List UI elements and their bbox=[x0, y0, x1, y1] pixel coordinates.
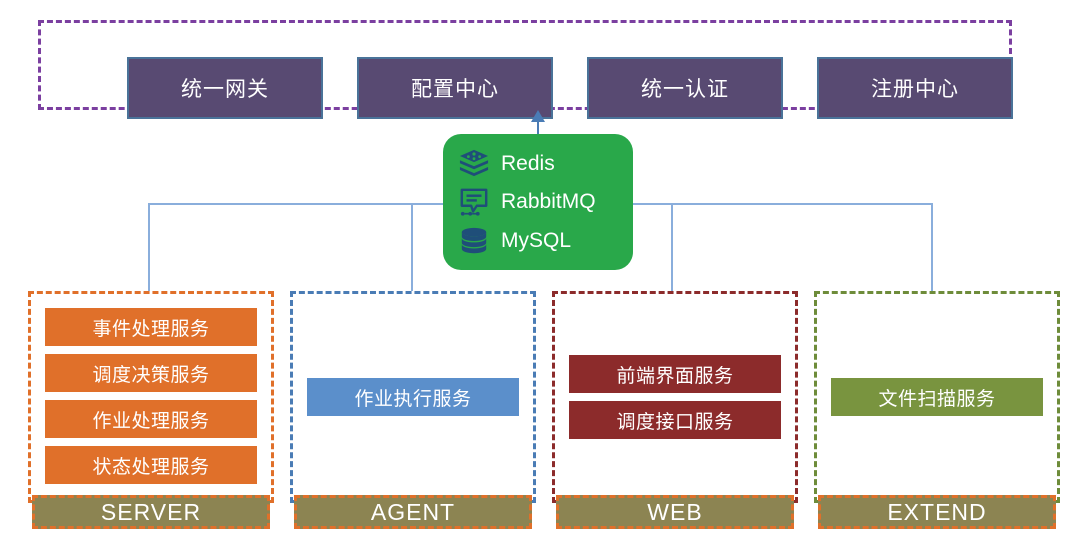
platform-box-auth[interactable]: 统一认证 bbox=[587, 57, 783, 119]
group-label-web-text: WEB bbox=[647, 499, 702, 526]
service-box-frontend-ui-label: 前端界面服务 bbox=[616, 361, 733, 388]
platform-box-auth-label: 统一认证 bbox=[641, 73, 729, 103]
arrow-up-icon bbox=[528, 110, 548, 136]
middleware-row-mysql: MySQL bbox=[459, 222, 633, 260]
redis-stack-icon bbox=[459, 148, 489, 178]
service-box-state-processing-label: 状态处理服务 bbox=[92, 452, 209, 479]
connector-drop-agent bbox=[411, 203, 413, 293]
group-label-server: SERVER bbox=[32, 495, 270, 529]
service-box-job-execution-label: 作业执行服务 bbox=[354, 384, 471, 411]
connector-bus-left bbox=[148, 203, 444, 205]
service-box-schedule-decision[interactable]: 调度决策服务 bbox=[45, 354, 257, 392]
service-box-event-processing[interactable]: 事件处理服务 bbox=[45, 308, 257, 346]
group-label-server-text: SERVER bbox=[101, 499, 201, 526]
group-label-extend: EXTEND bbox=[818, 495, 1056, 529]
middleware-row-rabbitmq: RabbitMQ bbox=[459, 183, 633, 221]
service-group-server: 事件处理服务 调度决策服务 作业处理服务 状态处理服务 bbox=[28, 291, 274, 503]
service-box-state-processing[interactable]: 状态处理服务 bbox=[45, 446, 257, 484]
service-box-schedule-api[interactable]: 调度接口服务 bbox=[569, 401, 781, 439]
service-group-agent: 作业执行服务 bbox=[290, 291, 536, 503]
connector-drop-server bbox=[148, 203, 150, 293]
group-label-agent-text: AGENT bbox=[371, 499, 455, 526]
platform-box-gateway-label: 统一网关 bbox=[181, 73, 269, 103]
service-box-file-scan[interactable]: 文件扫描服务 bbox=[831, 378, 1043, 416]
service-box-event-processing-label: 事件处理服务 bbox=[92, 314, 209, 341]
platform-box-gateway[interactable]: 统一网关 bbox=[127, 57, 323, 119]
platform-group-container: 统一网关 配置中心 统一认证 注册中心 bbox=[38, 20, 1012, 110]
service-box-schedule-decision-label: 调度决策服务 bbox=[92, 360, 209, 387]
service-box-frontend-ui[interactable]: 前端界面服务 bbox=[569, 355, 781, 393]
connector-bus-right bbox=[632, 203, 932, 205]
service-box-file-scan-label: 文件扫描服务 bbox=[878, 384, 995, 411]
service-group-web-body: 前端界面服务 调度接口服务 bbox=[555, 294, 795, 500]
group-label-agent: AGENT bbox=[294, 495, 532, 529]
middleware-label-mysql: MySQL bbox=[501, 230, 571, 251]
group-label-web: WEB bbox=[556, 495, 794, 529]
service-group-server-body: 事件处理服务 调度决策服务 作业处理服务 状态处理服务 bbox=[31, 294, 271, 500]
connector-drop-web bbox=[671, 203, 673, 293]
platform-box-config-center-label: 配置中心 bbox=[411, 73, 499, 103]
rabbitmq-message-icon bbox=[459, 187, 489, 217]
service-box-schedule-api-label: 调度接口服务 bbox=[616, 407, 733, 434]
service-box-job-processing[interactable]: 作业处理服务 bbox=[45, 400, 257, 438]
middleware-label-rabbitmq: RabbitMQ bbox=[501, 191, 596, 212]
group-label-extend-text: EXTEND bbox=[887, 499, 986, 526]
service-group-web: 前端界面服务 调度接口服务 bbox=[552, 291, 798, 503]
connector-drop-extend bbox=[931, 203, 933, 293]
service-box-job-processing-label: 作业处理服务 bbox=[92, 406, 209, 433]
middleware-row-redis: Redis bbox=[459, 144, 633, 182]
service-group-extend-body: 文件扫描服务 bbox=[817, 294, 1057, 500]
service-group-agent-body: 作业执行服务 bbox=[293, 294, 533, 500]
platform-box-config-center[interactable]: 配置中心 bbox=[357, 57, 553, 119]
middleware-label-redis: Redis bbox=[501, 153, 555, 174]
architecture-diagram: 统一网关 配置中心 统一认证 注册中心 bbox=[0, 0, 1080, 545]
service-box-job-execution[interactable]: 作业执行服务 bbox=[307, 378, 519, 416]
middleware-node[interactable]: Redis RabbitMQ bbox=[443, 134, 633, 270]
service-group-extend: 文件扫描服务 bbox=[814, 291, 1060, 503]
platform-box-registry-label: 注册中心 bbox=[871, 73, 959, 103]
mysql-database-icon bbox=[459, 226, 489, 256]
platform-box-registry[interactable]: 注册中心 bbox=[817, 57, 1013, 119]
